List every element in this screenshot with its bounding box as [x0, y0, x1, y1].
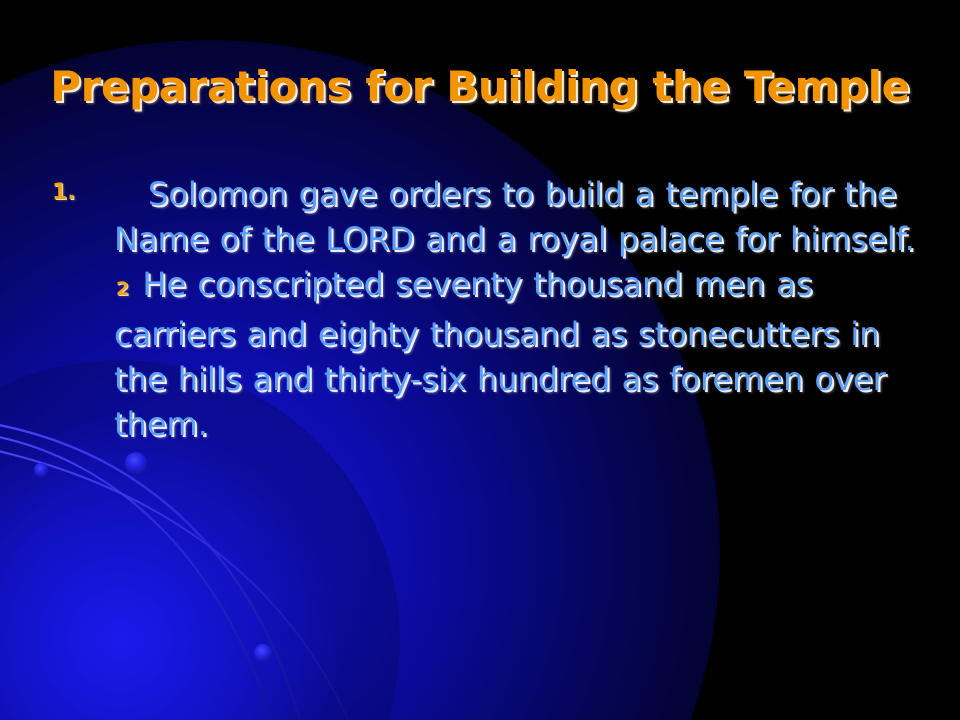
- slide-canvas: Preparations for Building the Temple 1. …: [0, 0, 960, 720]
- verse-number-marker: 2: [114, 278, 131, 300]
- decor-dot-lower: [254, 644, 272, 662]
- slide-body: 1. Solomon gave orders to build a temple…: [52, 172, 922, 447]
- decor-dot-large-mid: [125, 452, 147, 474]
- decor-dot-small-left: [34, 463, 48, 477]
- list-item-number: 1.: [52, 180, 98, 205]
- list-item: 1. Solomon gave orders to build a temple…: [52, 172, 922, 447]
- verse-text-part-1: Solomon gave orders to build a temple fo…: [114, 175, 915, 258]
- arc-outer: [0, 424, 300, 720]
- list-item-text: Solomon gave orders to build a temple fo…: [114, 172, 922, 447]
- arc-inner: [0, 450, 348, 720]
- slide-title: Preparations for Building the Temple: [0, 62, 960, 111]
- arc-middle: [0, 436, 272, 720]
- verse-text-part-2: He conscripted seventy thousand men as c…: [114, 265, 886, 443]
